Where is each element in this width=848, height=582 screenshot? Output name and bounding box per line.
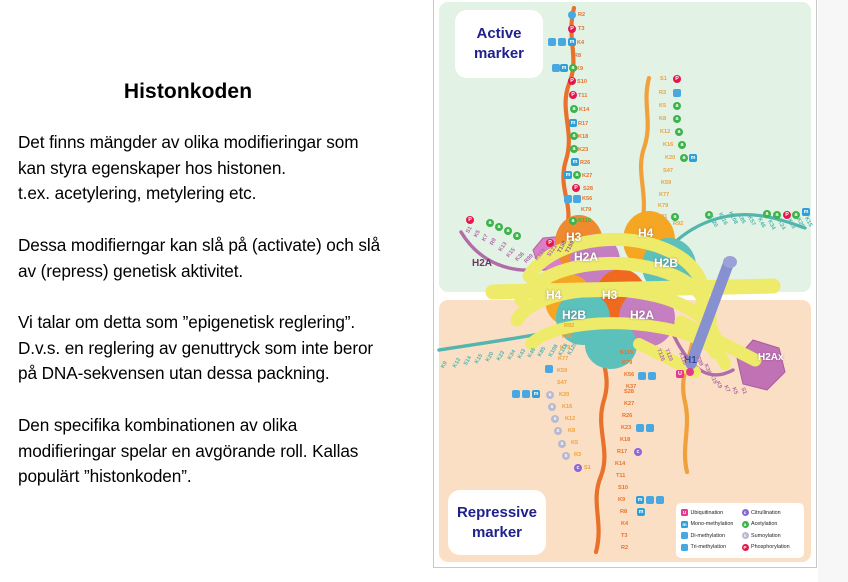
active-marker-badge: Active marker bbox=[455, 10, 543, 78]
tri-methylation-icon bbox=[681, 544, 688, 551]
bottom-gutter bbox=[433, 568, 818, 582]
mark-sumoylation: s bbox=[546, 391, 554, 399]
legend: U Ubiquitination c Citrullination m Mono… bbox=[676, 503, 804, 558]
mark-acetylation: a bbox=[763, 210, 771, 218]
mark-mono-methylation: m bbox=[571, 158, 579, 166]
mark-tri-methylation bbox=[656, 496, 664, 504]
legend-item-sumoylation: s Sumoylation bbox=[742, 530, 800, 542]
paragraph-2: Dessa modifierngar kan slå på (activate)… bbox=[18, 233, 430, 284]
core-label-h2b-upper: H2B bbox=[654, 256, 678, 270]
mark-acetylation: a bbox=[570, 105, 578, 113]
mark-acetylation: a bbox=[773, 211, 781, 219]
legend-item-tri-methylation: Tri-methylation bbox=[681, 542, 739, 554]
paragraph-3: Vi talar om detta som ”epigenetisk regle… bbox=[18, 310, 430, 387]
paragraph-3-line-2: D.v.s. en reglering av genuttryck som in… bbox=[18, 336, 430, 362]
legend-item-ubiquitination: U Ubiquitination bbox=[681, 507, 739, 519]
mark-tri-methylation bbox=[548, 38, 556, 46]
mark-acetylation: a bbox=[495, 223, 503, 231]
mark-di-methylation bbox=[673, 89, 681, 97]
mark-mono-methylation: m bbox=[564, 171, 572, 179]
core-label-h4-top: H4 bbox=[638, 226, 653, 240]
slide: Histonkoden Det finns mängder av olika m… bbox=[0, 0, 848, 582]
paragraph-2-line-1: Dessa modifierngar kan slå på (activate)… bbox=[18, 233, 430, 259]
mark-acetylation: a bbox=[678, 141, 686, 149]
legend-item-acetylation: a Acetylation bbox=[742, 519, 800, 531]
mark-di-methylation bbox=[545, 365, 553, 373]
di-methylation-icon bbox=[681, 532, 688, 539]
mark-acetylation: a bbox=[792, 211, 800, 219]
mark-di-methylation bbox=[568, 11, 576, 19]
mark-acetylation: a bbox=[680, 154, 688, 162]
paragraph-4-line-1: Den specifika kombinationen av olika bbox=[18, 413, 430, 439]
mark-acetylation: a bbox=[673, 102, 681, 110]
core-label-h2a-lower: H2A bbox=[630, 308, 654, 322]
mark-mono-methylation: m bbox=[532, 390, 540, 398]
repressive-marker-badge: Repressive marker bbox=[448, 490, 546, 555]
mark-ubiquitination bbox=[686, 368, 694, 376]
mark-mono-methylation: m bbox=[568, 38, 576, 46]
core-label-h2a-left: H2A bbox=[472, 258, 492, 269]
acetylation-icon: a bbox=[742, 521, 749, 528]
mark-acetylation: a bbox=[570, 145, 578, 153]
mark-acetylation: a bbox=[569, 64, 577, 72]
core-label-h2a-upper: H2A bbox=[574, 250, 598, 264]
mark-phosphorylation: P bbox=[673, 75, 681, 83]
mark-mono-methylation: m bbox=[689, 154, 697, 162]
active-marker-label-2: marker bbox=[474, 44, 524, 64]
active-marker-label-1: Active bbox=[476, 24, 521, 44]
paragraph-2-line-2: av (repress) genetisk aktivitet. bbox=[18, 259, 430, 285]
mark-di-methylation bbox=[636, 424, 644, 432]
sumoylation-icon: s bbox=[742, 532, 749, 539]
paragraph-1-line-2: kan styra egenskaper hos histonen. bbox=[18, 156, 430, 182]
mark-phosphorylation: P bbox=[546, 239, 554, 247]
ubiquitination-icon: U bbox=[681, 509, 688, 516]
mark-acetylation: a bbox=[570, 132, 578, 140]
legend-item-mono-methylation: m Mono-methylation bbox=[681, 519, 739, 531]
mark-sumoylation: s bbox=[548, 403, 556, 411]
right-gutter bbox=[818, 0, 848, 582]
mark-di-methylation bbox=[573, 195, 581, 203]
mark-tri-methylation bbox=[512, 390, 520, 398]
mark-acetylation: a bbox=[673, 115, 681, 123]
mark-acetylation: a bbox=[671, 213, 679, 221]
phosphorylation-icon: P bbox=[742, 544, 749, 551]
mark-phosphorylation: P bbox=[783, 211, 791, 219]
mark-phosphorylation: P bbox=[569, 91, 577, 99]
mark-phosphorylation: P bbox=[466, 216, 474, 224]
mark-acetylation: a bbox=[569, 217, 577, 225]
citrullination-icon: c bbox=[742, 509, 749, 516]
mark-mono-methylation: m bbox=[569, 119, 577, 127]
mark-acetylation: a bbox=[486, 219, 494, 227]
paragraph-1-line-1: Det finns mängder av olika modifieringar… bbox=[18, 130, 430, 156]
paragraph-1-line-3: t.ex. acetylering, metylering etc. bbox=[18, 181, 430, 207]
mark-sumoylation: s bbox=[551, 415, 559, 423]
repressive-marker-label-1: Repressive bbox=[457, 503, 537, 523]
mark-mono-methylation: m bbox=[636, 496, 644, 504]
mark-phosphorylation: P bbox=[568, 25, 576, 33]
paragraph-4-line-3: populärt ”histonkoden”. bbox=[18, 464, 430, 490]
repressive-marker-label-2: marker bbox=[472, 523, 522, 543]
paragraph-4: Den specifika kombinationen av olika mod… bbox=[18, 413, 430, 490]
mark-ubiquitination: U bbox=[676, 370, 684, 378]
core-label-h2ax: H2Ax bbox=[758, 352, 784, 363]
mark-phosphorylation: P bbox=[572, 184, 580, 192]
mark-tri-methylation bbox=[552, 64, 560, 72]
mark-sumoylation: s bbox=[562, 452, 570, 460]
page-title: Histonkoden bbox=[18, 80, 358, 104]
mark-tri-methylation bbox=[646, 424, 654, 432]
legend-item-di-methylation: Di-methylation bbox=[681, 530, 739, 542]
mark-tri-methylation bbox=[564, 195, 572, 203]
mark-tri-methylation bbox=[648, 372, 656, 380]
histone-figure bbox=[433, 0, 817, 568]
mono-methylation-icon: m bbox=[681, 521, 688, 528]
mark-di-methylation bbox=[646, 496, 654, 504]
mark-mono-methylation: m bbox=[637, 508, 645, 516]
mark-acetylation: a bbox=[513, 232, 521, 240]
paragraph-4-line-2: modifieringar spelar en avgörande roll. … bbox=[18, 439, 430, 465]
core-label-h2b-lower: H2B bbox=[562, 308, 586, 322]
text-column: Histonkoden Det finns mängder av olika m… bbox=[0, 0, 432, 582]
core-label-h3-lower: H3 bbox=[602, 288, 617, 302]
mark-citrullination: c bbox=[574, 464, 582, 472]
paragraph-1: Det finns mängder av olika modifieringar… bbox=[18, 130, 430, 207]
mark-di-methylation bbox=[558, 38, 566, 46]
core-label-h4-lower: H4 bbox=[546, 288, 561, 302]
paragraph-3-line-1: Vi talar om detta som ”epigenetisk regle… bbox=[18, 310, 430, 336]
mark-acetylation: a bbox=[675, 128, 683, 136]
mark-mono-methylation: m bbox=[802, 208, 810, 216]
mark-acetylation: a bbox=[573, 171, 581, 179]
mark-acetylation: a bbox=[504, 227, 512, 235]
mark-di-methylation bbox=[638, 372, 646, 380]
mark-phosphorylation: P bbox=[568, 77, 576, 85]
mark-citrullination: c bbox=[634, 448, 642, 456]
mark-sumoylation: s bbox=[554, 427, 562, 435]
mark-sumoylation: s bbox=[558, 440, 566, 448]
paragraph-3-line-3: på DNA-sekvensen utan dessa packning. bbox=[18, 361, 430, 387]
legend-item-citrullination: c Citrullination bbox=[742, 507, 800, 519]
mark-mono-methylation: m bbox=[560, 64, 568, 72]
legend-item-phosphorylation: P Phosphorylation bbox=[742, 542, 800, 554]
mark-di-methylation bbox=[522, 390, 530, 398]
